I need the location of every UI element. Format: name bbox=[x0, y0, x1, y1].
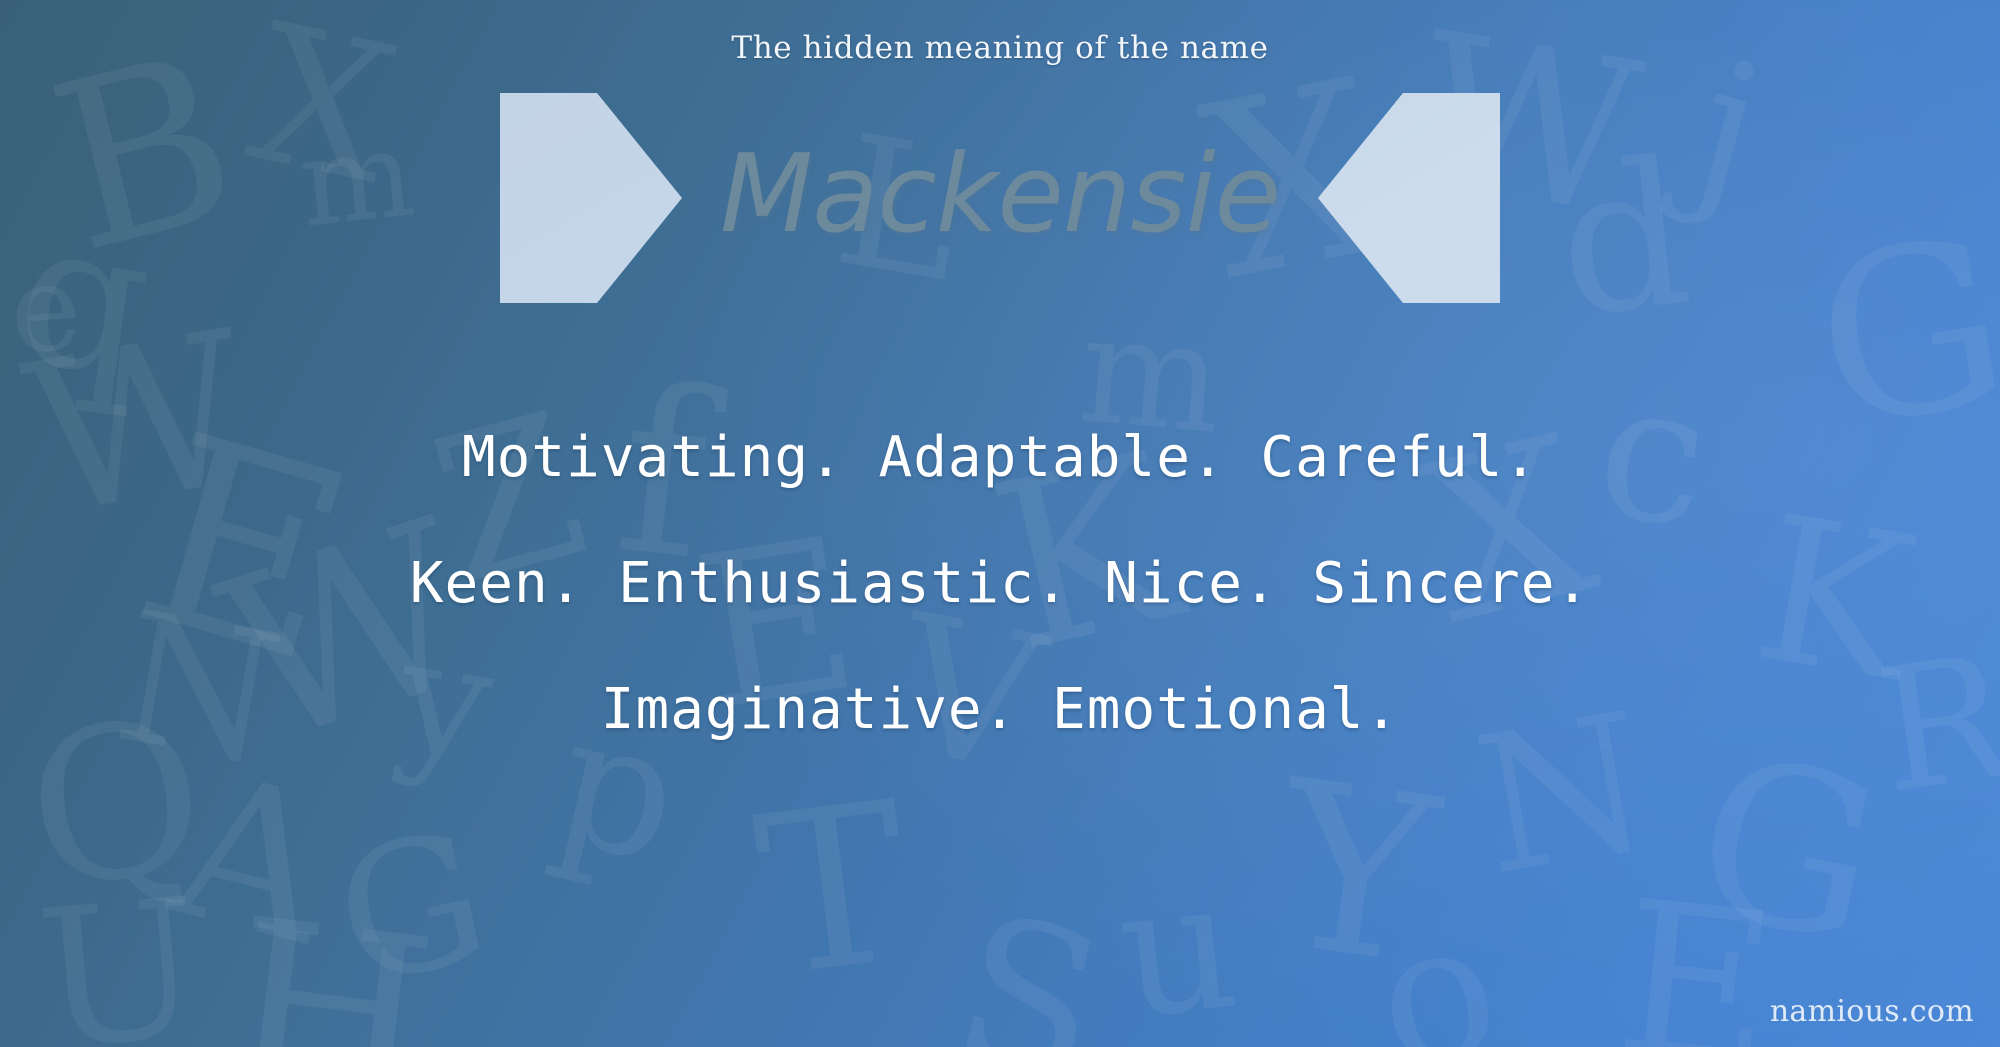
background-glyph: H bbox=[217, 889, 444, 1047]
background-glyph: E bbox=[1609, 873, 1783, 1047]
background-glyph: o bbox=[1363, 891, 1512, 1047]
background-glyph: G bbox=[1679, 724, 1897, 976]
background-glyph: G bbox=[1803, 207, 2000, 463]
trait-line: Imaginative. Emotional. bbox=[0, 682, 2000, 738]
background-glyph: A bbox=[158, 745, 347, 974]
background-glyph: U bbox=[32, 873, 208, 1047]
background-glyph: e bbox=[6, 248, 85, 373]
name-meaning-card: BXmqWEWNQAUHGyZfEpTVKmXWdjGcXKRGNYuSoEeL… bbox=[0, 0, 2000, 1047]
background-glyph: d bbox=[1550, 134, 1698, 346]
name-text: Mackensie bbox=[500, 93, 1500, 303]
trait-line: Motivating. Adaptable. Careful. bbox=[0, 430, 2000, 486]
background-glyph: q bbox=[7, 192, 162, 408]
trait-line: Keen. Enthusiastic. Nice. Sincere. bbox=[0, 556, 2000, 612]
background-glyph: T bbox=[747, 772, 919, 1008]
background-glyph: G bbox=[323, 807, 501, 1013]
background-glyph: m bbox=[294, 114, 420, 245]
background-glyph: S bbox=[939, 887, 1117, 1047]
page-title: The hidden meaning of the name bbox=[0, 30, 2000, 66]
site-watermark: namious.com bbox=[1770, 994, 1974, 1029]
background-glyph: Y bbox=[1265, 751, 1447, 1000]
name-banner: Mackensie bbox=[500, 93, 1500, 303]
background-glyph: u bbox=[1111, 854, 1245, 1045]
trait-list: Motivating. Adaptable. Careful. Keen. En… bbox=[0, 430, 2000, 738]
